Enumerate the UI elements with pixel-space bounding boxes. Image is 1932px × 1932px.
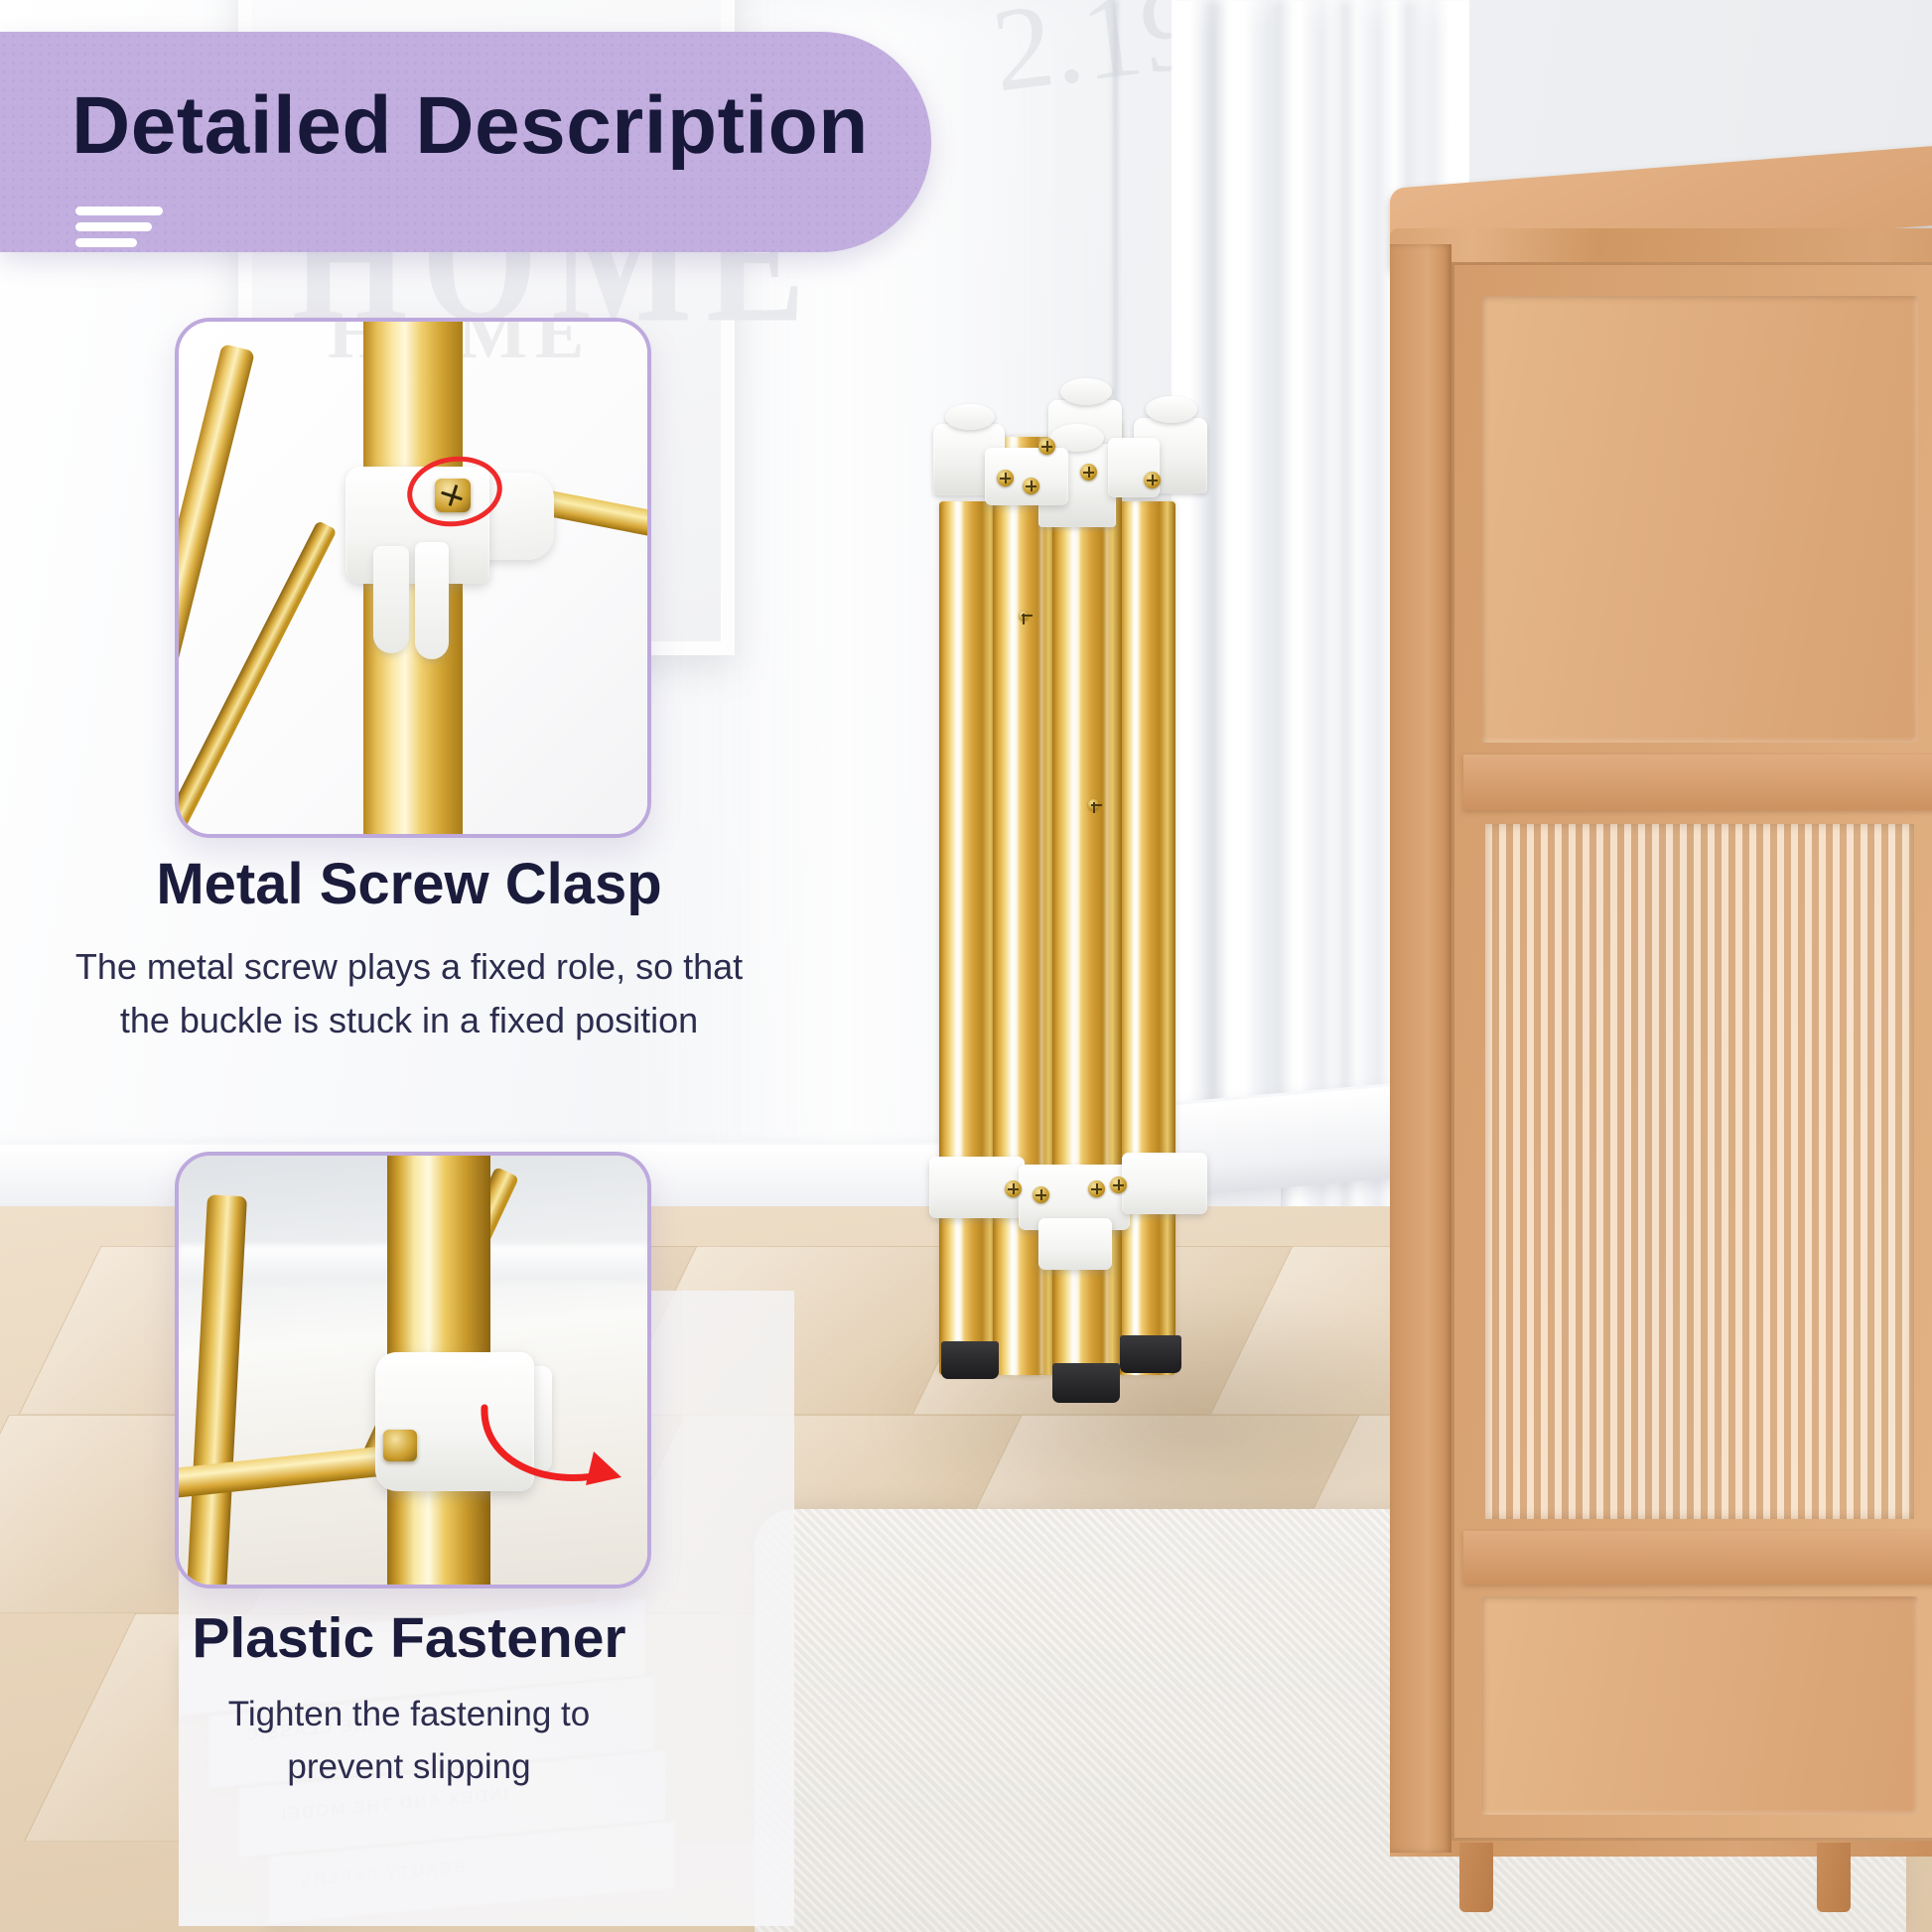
- rack-top-bracket: [1108, 438, 1160, 497]
- cabinet-leg: [1817, 1843, 1851, 1912]
- feature-photo-plastic-fastener: [179, 1156, 647, 1585]
- feature-text-metal-screw-clasp: Metal Screw Clasp The metal screw plays …: [42, 852, 776, 1048]
- rack-screw: [1110, 1176, 1127, 1193]
- fastener-screw: [383, 1430, 417, 1461]
- rack-rubber-foot: [1120, 1335, 1181, 1373]
- cabinet-side-panel: [1390, 244, 1451, 1853]
- clasp-tab: [373, 546, 409, 653]
- cabinet-leg: [1459, 1843, 1493, 1912]
- red-rotation-arrow-icon: [477, 1366, 651, 1495]
- feature-title: Plastic Fastener: [42, 1606, 776, 1672]
- feature-photo-metal-screw-clasp: HOME: [179, 322, 647, 834]
- cabinet-ribbed-glass: [1485, 824, 1914, 1519]
- cabinet-upper-panel: [1481, 296, 1918, 743]
- rack-pole: [939, 501, 999, 1375]
- wood-cabinet: [1390, 167, 1932, 1855]
- rack-screw: [1038, 438, 1055, 455]
- rack-screw: [1005, 1180, 1022, 1197]
- cabinet-mid-rail: [1463, 755, 1932, 810]
- folded-clothes-rack: [923, 372, 1221, 1375]
- feature-text-plastic-fastener: Plastic Fastener Tighten the fastening t…: [42, 1606, 776, 1793]
- feature-title: Metal Screw Clasp: [42, 852, 776, 918]
- feature-card-plastic-fastener: [175, 1152, 651, 1588]
- rack-screw: [1033, 1186, 1049, 1203]
- cabinet-lower-rail: [1463, 1531, 1932, 1585]
- feature-description: Tighten the fastening to prevent slippin…: [42, 1688, 776, 1793]
- header-banner: Detailed Description: [0, 32, 931, 252]
- rack-bottom-clamp: [1122, 1153, 1207, 1214]
- rack-screw: [1019, 611, 1029, 621]
- rack-rubber-foot: [941, 1341, 999, 1379]
- clasp-tab: [415, 542, 449, 659]
- rack-cap-knob: [945, 404, 995, 430]
- rack-screw: [1144, 472, 1161, 488]
- rack-pole: [1118, 501, 1175, 1375]
- three-lines-icon: [75, 207, 163, 254]
- rack-cap-knob: [1060, 378, 1112, 405]
- rack-bottom-clamp-lower: [1038, 1218, 1112, 1270]
- rack-screw: [1080, 464, 1097, 481]
- rack-rubber-foot: [1052, 1363, 1120, 1403]
- rack-screw: [1088, 1180, 1105, 1197]
- cabinet-lower-panel: [1481, 1596, 1918, 1815]
- rack-screw: [1088, 799, 1099, 810]
- page-title: Detailed Description: [71, 79, 869, 173]
- feature-card-metal-screw-clasp: HOME: [175, 318, 651, 838]
- rack-cap-knob: [1146, 396, 1197, 423]
- feature-description: The metal screw plays a fixed role, so t…: [42, 940, 776, 1048]
- cabinet-door-frame: [1451, 262, 1932, 1841]
- rack-screw: [997, 470, 1014, 486]
- rack-screw: [1023, 478, 1039, 494]
